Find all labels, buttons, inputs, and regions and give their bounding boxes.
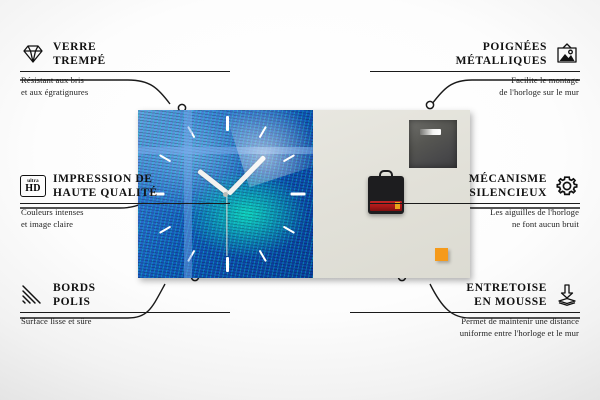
feature-divider [370,71,580,72]
feature-description: Les aiguilles de l'horloge ne font aucun… [370,207,580,230]
feature-divider [20,71,230,72]
gear-icon [554,174,580,198]
feature-divider [20,312,230,313]
feature-title: VERRE TREMPÉ [53,40,106,68]
feature-description: Surface lisse et sûre [20,316,230,327]
feature-head: ultra HD IMPRESSION DE HAUTE QUALITÉ [20,172,230,200]
feature-title: BORDS POLIS [53,281,96,309]
feature-description: Permet de maintenir une distance uniform… [350,316,580,339]
clock-tick [187,250,195,262]
clock-tick [158,154,170,162]
feature-mecanisme-silencieux: MÉCANISME SILENCIEUX Les aiguilles de l'… [370,172,580,230]
clock-tick [226,257,229,272]
feature-divider [350,312,580,313]
clock-tick [187,126,195,138]
clock-minute-hand [226,155,265,196]
connector-dot-poignees [426,101,433,108]
feature-poignees-metalliques: POIGNÉES MÉTALLIQUES Facilite le montage… [370,40,580,98]
feature-divider [20,203,230,204]
feature-title: POIGNÉES MÉTALLIQUES [456,40,547,68]
feature-bords-polis: BORDS POLIS Surface lisse et sûre [20,281,230,328]
feature-head: BORDS POLIS [20,281,230,309]
feature-head: POIGNÉES MÉTALLIQUES [370,40,580,68]
feature-head: VERRE TREMPÉ [20,40,230,68]
feature-title: MÉCANISME SILENCIEUX [469,172,547,200]
ultra-hd-badge-icon: ultra HD [20,175,46,197]
feature-head: ENTRETOISE EN MOUSSE [350,281,580,309]
feature-impression-haute-qualite: ultra HD IMPRESSION DE HAUTE QUALITÉ Cou… [20,172,230,230]
clock-tick [258,250,266,262]
clock-tick [290,193,305,196]
feature-divider [370,203,580,204]
infographic-stage: VERRE TREMPÉ Résistant aux bris et aux é… [0,0,600,400]
foam-spacer-icon [554,283,580,307]
diamond-icon [20,42,46,66]
feature-title: IMPRESSION DE HAUTE QUALITÉ [53,172,158,200]
clock-tick [282,154,294,162]
feature-description: Facilite le montage de l'horloge sur le … [370,75,580,98]
metal-hanger-plate [409,120,457,168]
feature-description: Couleurs intenses et image claire [20,207,230,230]
polished-edge-icon [20,283,46,307]
feature-verre-trempe: VERRE TREMPÉ Résistant aux bris et aux é… [20,40,230,98]
clock-tick [258,126,266,138]
hanging-frame-icon [554,42,580,66]
clock-tick [282,226,294,234]
feature-entretoise-en-mousse: ENTRETOISE EN MOUSSE Permet de maintenir… [350,281,580,339]
feature-head: MÉCANISME SILENCIEUX [370,172,580,200]
feature-description: Résistant aux bris et aux égratignures [20,75,230,98]
glass-glare [223,110,313,188]
feature-title: ENTRETOISE EN MOUSSE [466,281,547,309]
foam-spacer [435,248,448,261]
clock-tick [226,116,229,131]
